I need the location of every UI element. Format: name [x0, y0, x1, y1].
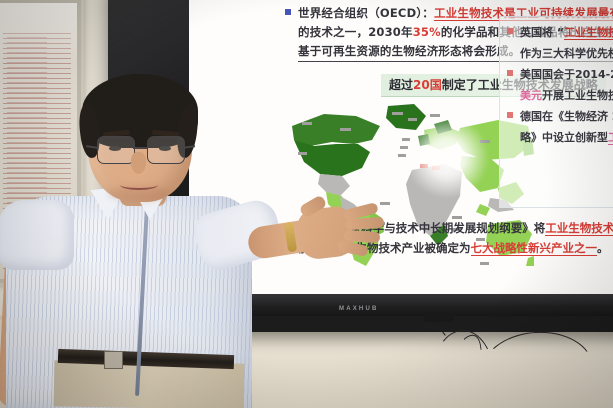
usa-line-2-b: 开展工业生物技术研发	[542, 89, 613, 102]
screen-glare	[404, 118, 490, 196]
bottom-line-1-c: 工业生物技术列	[545, 221, 613, 236]
heading-number: 20国	[413, 78, 442, 92]
mouth	[120, 180, 158, 190]
nose	[131, 152, 146, 174]
usa-line-2-a: 美元	[520, 89, 542, 102]
germany-line-2-b: 工业生物技术	[608, 131, 613, 145]
right-item-germany: 德国在《生物经济 2030 国家研	[507, 106, 613, 127]
germany-line-1: 德国在《生物经济 2030 国家研	[520, 110, 613, 123]
top-line-1-a: 世界经合组织（OECD）：	[298, 6, 434, 20]
glasses-lens-right	[147, 136, 185, 164]
bullet-square-icon	[507, 112, 513, 118]
germany-line-2: 略》中设立创新型工业生物技术	[520, 127, 613, 148]
uk-line-1-a: 英国将 “	[520, 26, 564, 39]
right-item-uk: 英国将 “工业生物技术与生物能	[507, 22, 613, 43]
glasses-bridge	[133, 147, 147, 149]
glasses-lens-left	[97, 136, 135, 164]
right-item-usa: 美国国会于2014-2018年投入2	[507, 64, 613, 85]
bottom-line-2-c: 。	[597, 241, 609, 255]
top-line-2-b: 35%	[413, 25, 441, 39]
uk-line-2: 作为三大科学优先权的新战略之	[520, 43, 613, 64]
top-line-2-a: 的技术之一，2030年	[298, 25, 413, 39]
presenter	[0, 0, 300, 408]
belt-buckle	[104, 351, 123, 369]
photo-scene: 世界经合组织（OECD）：工业生物技术是工业可持续发展最有 的技术之一，2030…	[0, 0, 613, 408]
bullet-square-icon	[507, 28, 513, 34]
heading-prefix: 超过	[389, 78, 413, 92]
usa-line-2: 美元开展工业生物技术研发	[520, 85, 613, 106]
bullet-square-icon	[507, 70, 513, 76]
bottom-line-2-b: 七大战略性新兴产业之一	[471, 241, 598, 256]
usa-line-1: 美国国会于2014-2018年投入2	[520, 68, 613, 81]
display-foot	[424, 314, 454, 322]
maxhub-logo: MAXHUB	[339, 306, 379, 312]
uk-line-1-b: 工业生物技术与生物能	[564, 26, 613, 40]
presenter-left-sleeve	[0, 200, 74, 270]
germany-line-2-a: 略》中设立创新型	[520, 131, 608, 144]
right-panel-list: 英国将 “工业生物技术与生物能 作为三大科学优先权的新战略之 美国国会于2014…	[507, 22, 613, 148]
